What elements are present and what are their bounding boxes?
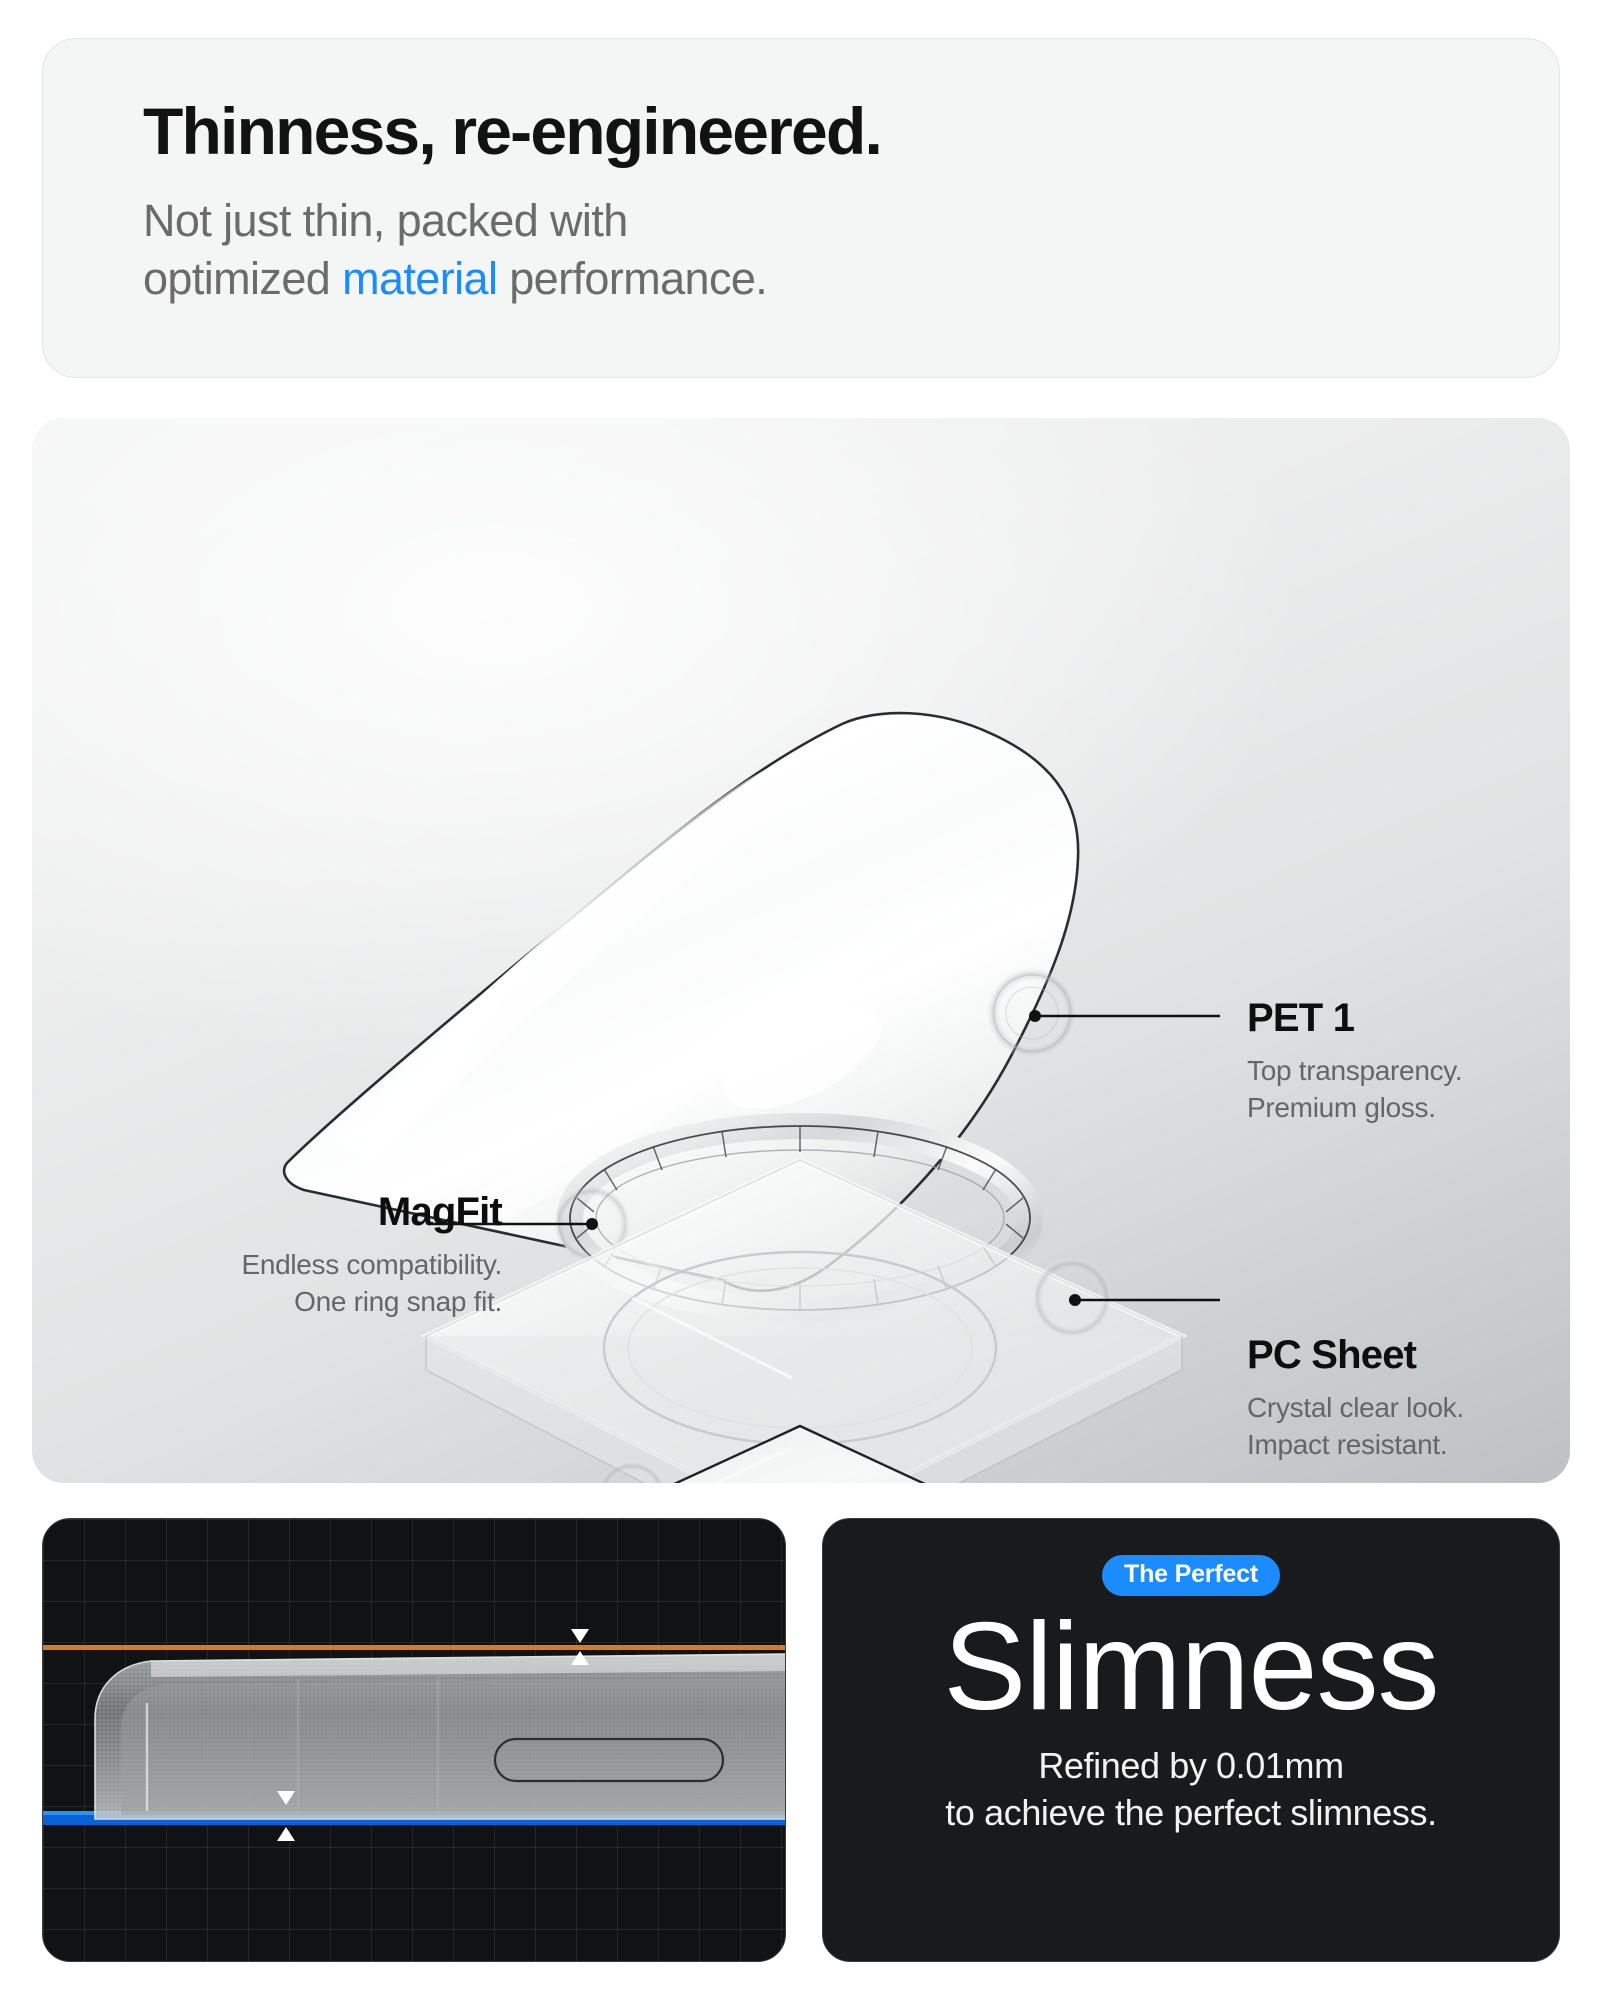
infographic-page: Thinness, re-engineered. Not just thin, … <box>0 0 1600 2000</box>
callout-pet1-desc-line1: Top transparency. <box>1247 1055 1462 1086</box>
callout-magfit-desc-line2: One ring snap fit. <box>294 1286 502 1317</box>
callout-pc-sheet-desc: Crystal clear look. Impact resistant. <box>1247 1389 1464 1463</box>
page-title: Thinness, re-engineered. <box>143 97 1559 166</box>
slimness-caption-line1: Refined by 0.01mm <box>1038 1745 1343 1786</box>
callout-pet1-desc: Top transparency. Premium gloss. <box>1247 1052 1462 1126</box>
callout-pc-sheet-desc-line1: Crystal clear look. <box>1247 1392 1464 1423</box>
callout-magfit: MagFit Endless compatibility. One ring s… <box>112 1190 502 1320</box>
hero-subtitle-line1: Not just thin, packed with <box>143 195 628 246</box>
triangle-marker-bottom-up <box>277 1827 295 1841</box>
callout-pc-sheet-desc-line2: Impact resistant. <box>1247 1429 1447 1460</box>
callout-pet1-title: PET 1 <box>1247 996 1462 1040</box>
hero-subtitle-line2-pre: optimized <box>143 253 342 304</box>
status-badge: The Perfect <box>1102 1555 1280 1596</box>
slimness-card: The Perfect Slimness Refined by 0.01mm t… <box>822 1518 1560 1962</box>
hero-subtitle-accent: material <box>342 253 497 304</box>
callout-pc-sheet: PC Sheet Crystal clear look. Impact resi… <box>1247 1333 1464 1463</box>
top-reference-line <box>43 1645 786 1650</box>
callout-magfit-title: MagFit <box>112 1190 502 1234</box>
cross-section-card <box>42 1518 786 1962</box>
exploded-stack-illustration <box>32 418 1570 1483</box>
callout-pc-sheet-title: PC Sheet <box>1247 1333 1464 1377</box>
slimness-caption-line2: to achieve the perfect slimness. <box>945 1792 1436 1833</box>
callout-pet1: PET 1 Top transparency. Premium gloss. <box>1247 996 1462 1126</box>
callout-pet1-desc-line2: Premium gloss. <box>1247 1092 1436 1123</box>
hero-subtitle: Not just thin, packed with optimized mat… <box>143 192 1559 307</box>
callout-magfit-desc-line1: Endless compatibility. <box>241 1249 502 1280</box>
exploded-diagram-card: PET 1 Top transparency. Premium gloss. M… <box>32 418 1570 1483</box>
hero-card: Thinness, re-engineered. Not just thin, … <box>42 38 1560 378</box>
callout-magfit-desc: Endless compatibility. One ring snap fit… <box>112 1246 502 1320</box>
case-cross-section-illustration <box>43 1519 786 1962</box>
slimness-headline: Slimness <box>823 1598 1559 1737</box>
slimness-caption: Refined by 0.01mm to achieve the perfect… <box>823 1743 1559 1837</box>
triangle-marker-top-down <box>571 1629 589 1643</box>
hero-subtitle-line2-post: performance. <box>497 253 767 304</box>
